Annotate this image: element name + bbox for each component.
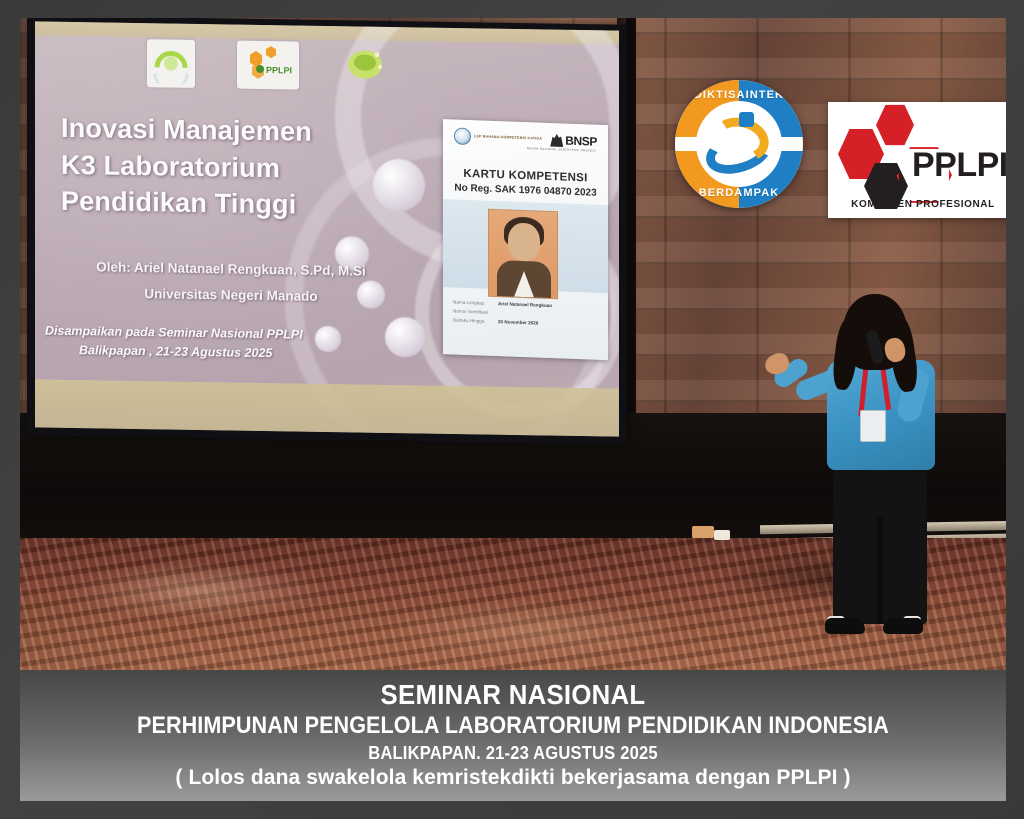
- presenter-left-shoe: [825, 618, 865, 634]
- presenter-leg-split: [877, 518, 883, 624]
- presenter-figure: [765, 288, 995, 670]
- svg-text:PPLPI: PPLPI: [266, 65, 292, 75]
- card-registration-number: No Reg. SAK 1976 04870 2023: [443, 182, 608, 199]
- pplpi-logo: PPLPI KOMPETEN PROFESIONAL: [828, 102, 1006, 218]
- event-photograph: PPLPI Inovasi Manajemen: [20, 18, 1006, 670]
- floor-object-box: [692, 526, 714, 538]
- caption-line-2: PERHIMPUNAN PENGELOLA LABORATORIUM PENDI…: [79, 712, 947, 740]
- badge-bottom-text: BERDAMPAK: [675, 187, 803, 199]
- university-crest-logo: [341, 42, 389, 91]
- pplpi-hexagon-red-small: [876, 104, 914, 146]
- lsp-bahana-logo: [147, 39, 195, 88]
- caption-line-1: SEMINAR NASIONAL: [59, 679, 966, 711]
- slide-title-line-2: K3 Laboratorium: [61, 147, 421, 189]
- diktisaintek-badge: DIKTISAINTEK BERDAMPAK: [675, 80, 803, 208]
- lsp-seal-icon: [454, 127, 471, 145]
- lsp-logo: LSP BAHANA KOMPETENSI KATIGA: [454, 127, 542, 147]
- slide-logo-row: PPLPI: [147, 39, 389, 91]
- badge-top-text: DIKTISAINTEK: [675, 89, 803, 101]
- pplpi-slide-logo: PPLPI: [237, 41, 299, 90]
- card-field-list: Nama Lengkap Nomor Sertifikasi Berlaku H…: [453, 297, 598, 330]
- slide-surface: PPLPI Inovasi Manajemen: [35, 21, 619, 436]
- lsp-text: LSP BAHANA KOMPETENSI KATIGA: [474, 134, 542, 141]
- caption-bar: SEMINAR NASIONAL PERHIMPUNAN PENGELOLA L…: [20, 670, 1006, 801]
- presenter-id-badge: [860, 410, 886, 442]
- slide-affiliation: Universitas Negeri Manado: [61, 280, 401, 312]
- card-header: LSP BAHANA KOMPETENSI KATIGA BNSP: [443, 127, 608, 150]
- card-field-label: Berlaku Hingga: [453, 316, 488, 326]
- slide-title-line-3: Pendidikan Tinggi: [61, 183, 421, 225]
- slide-title: Inovasi Manajemen K3 Laboratorium Pendid…: [61, 110, 421, 226]
- card-portrait-photo: [488, 209, 558, 300]
- projection-screen: PPLPI Inovasi Manajemen: [27, 18, 627, 445]
- bnsp-mark-icon: [550, 133, 563, 147]
- slide-sphere-4: [385, 317, 425, 358]
- card-field-values: Ariel Natanael Rengkuan 20 November 2026: [498, 299, 552, 329]
- slide-bottom-band: [35, 379, 619, 436]
- competency-card: LSP BAHANA KOMPETENSI KATIGA BNSP BADAN …: [443, 119, 608, 360]
- floor-object-paper: [714, 530, 730, 540]
- slide-event-note: Disampaikan pada Seminar Nasional PPLPI …: [45, 322, 345, 365]
- caption-line-3: BALIKPAPAN. 21-23 AGUSTUS 2025: [59, 743, 966, 764]
- badge-figure-head: [739, 112, 754, 127]
- presenter-right-shoe: [883, 618, 923, 634]
- pplpi-wordmark: PPLPI: [912, 146, 1006, 185]
- badge-figure-icon: [705, 112, 773, 174]
- slide-note-line-1: Disampaikan pada Seminar Nasional PPLPI: [45, 324, 303, 342]
- bnsp-logo: BNSP: [550, 133, 597, 149]
- slide-author-block: Oleh: Ariel Natanael Rengkuan, S.Pd, M.S…: [61, 254, 401, 312]
- portrait-face: [508, 222, 540, 261]
- card-field-labels: Nama Lengkap Nomor Sertifikasi Berlaku H…: [453, 297, 488, 326]
- slide-title-line-1: Inovasi Manajemen: [61, 110, 421, 152]
- pplpi-tagline: KOMPETEN PROFESIONAL: [828, 199, 1006, 210]
- seminar-poster: PPLPI Inovasi Manajemen: [0, 0, 1024, 819]
- wall-column-edge: [626, 18, 636, 448]
- card-field-value: 20 November 2026: [498, 317, 552, 328]
- bnsp-wordmark: BNSP: [565, 133, 597, 148]
- caption-line-4: ( Lolos dana swakelola kemristekdikti be…: [20, 766, 1006, 790]
